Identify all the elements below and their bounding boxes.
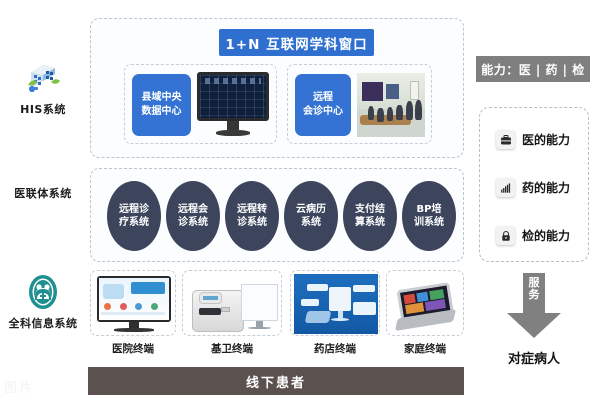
node-line-1: BP培 — [417, 203, 442, 217]
watermark: 图片 — [4, 377, 34, 396]
rail-item-label: HIS系统 — [0, 101, 86, 117]
left-rail: HIS系统 医联体系统 全科信息系统 — [0, 0, 86, 400]
terminal-caption-home: 家庭终端 — [386, 341, 464, 356]
capability-item-testing[interactable]: 检的能力 — [496, 226, 570, 245]
service-arrow-line-1: 服 — [505, 277, 563, 289]
service-target-label: 对症病人 — [476, 348, 592, 367]
terminal-hospital[interactable] — [90, 270, 176, 336]
node-line-2: 诊系统 — [178, 216, 208, 230]
rail-item-alliance: 医联体系统 — [0, 185, 86, 201]
capability-item-label: 检的能力 — [522, 227, 570, 244]
conference-room-photo — [357, 73, 425, 137]
rail-item-label: 全科信息系统 — [0, 315, 86, 331]
node-bp-training[interactable]: BP培 训系统 — [402, 181, 456, 251]
top-group-data-center: 县域中央 数据中心 — [124, 64, 277, 144]
terminal-caption-primary-health: 基卫终端 — [182, 341, 282, 356]
family-care-icon — [0, 266, 86, 312]
terminal-home[interactable] — [386, 270, 464, 336]
tile-remote-consult-center[interactable]: 远程 会诊中心 — [295, 74, 351, 136]
node-line-1: 远程转 — [237, 203, 267, 217]
rail-item-label: 医联体系统 — [0, 185, 86, 201]
pharmacy-counter-photo — [294, 274, 378, 334]
tile-county-data-center[interactable]: 县域中央 数据中心 — [132, 74, 191, 136]
capability-item-label: 医的能力 — [522, 131, 570, 148]
capability-panel: 医的能力 药的能力 检的能力 — [479, 107, 589, 262]
tile-line-1: 县域中央 — [142, 91, 182, 106]
terminal-pharmacy[interactable] — [290, 270, 380, 336]
desktop-monitor-photo — [197, 72, 269, 138]
node-line-1: 支付结 — [355, 203, 385, 217]
node-remote-consultation[interactable]: 远程会 诊系统 — [166, 181, 220, 251]
node-line-1: 远程诊 — [119, 203, 149, 217]
terminal-caption-hospital: 医院终端 — [90, 341, 176, 356]
service-arrow: 服 务 — [505, 273, 563, 339]
service-arrow-line-2: 务 — [505, 289, 563, 301]
node-line-2: 疗系统 — [119, 216, 149, 230]
rail-item-his: HIS系统 — [0, 52, 86, 117]
node-line-2: 系统 — [301, 216, 321, 230]
node-line-2: 算系统 — [355, 216, 385, 230]
node-line-1: 远程会 — [178, 203, 208, 217]
hospital-building-icon — [0, 52, 86, 98]
tile-line-1: 远程 — [313, 91, 333, 106]
briefcase-icon — [496, 130, 515, 149]
tile-line-2: 会诊中心 — [303, 105, 343, 120]
bar-chart-icon — [496, 178, 515, 197]
top-group-remote-consult: 远程 会诊中心 — [287, 64, 432, 144]
node-line-1: 云病历 — [296, 203, 326, 217]
middle-section-panel: 远程诊 疗系统 远程会 诊系统 远程转 诊系统 云病历 系统 支付结 算系统 B… — [90, 168, 464, 262]
tv-display-photo — [95, 274, 173, 334]
node-line-2: 诊系统 — [237, 216, 267, 230]
node-payment-settlement[interactable]: 支付结 算系统 — [343, 181, 397, 251]
page-title: 1+N 互联网学科窗口 — [219, 29, 374, 56]
terminal-caption-pharmacy: 药店终端 — [290, 341, 380, 356]
offline-patients-bar: 线下患者 — [88, 367, 464, 395]
node-line-2: 训系统 — [414, 216, 444, 230]
tile-line-2: 数据中心 — [142, 105, 182, 120]
node-remote-referral[interactable]: 远程转 诊系统 — [225, 181, 279, 251]
capability-item-label: 药的能力 — [522, 179, 570, 196]
capability-item-medical[interactable]: 医的能力 — [496, 130, 570, 149]
rail-item-general-practice: 全科信息系统 — [0, 266, 86, 331]
capability-header: 能力：医 | 药 | 检 — [476, 56, 590, 82]
diagram-canvas: HIS系统 医联体系统 全科信息系统 — [0, 0, 600, 400]
node-cloud-records[interactable]: 云病历 系统 — [284, 181, 338, 251]
top-section-panel: 1+N 互联网学科窗口 县域中央 数据中心 远程 会诊中心 — [90, 18, 464, 158]
node-remote-diagnosis[interactable]: 远程诊 疗系统 — [107, 181, 161, 251]
capability-item-pharmacy[interactable]: 药的能力 — [496, 178, 570, 197]
lock-icon — [496, 226, 515, 245]
tablet-device-photo — [390, 274, 462, 334]
kiosk-workstation-photo — [186, 274, 280, 334]
service-arrow-label: 服 务 — [505, 277, 563, 300]
terminal-primary-health[interactable] — [182, 270, 282, 336]
